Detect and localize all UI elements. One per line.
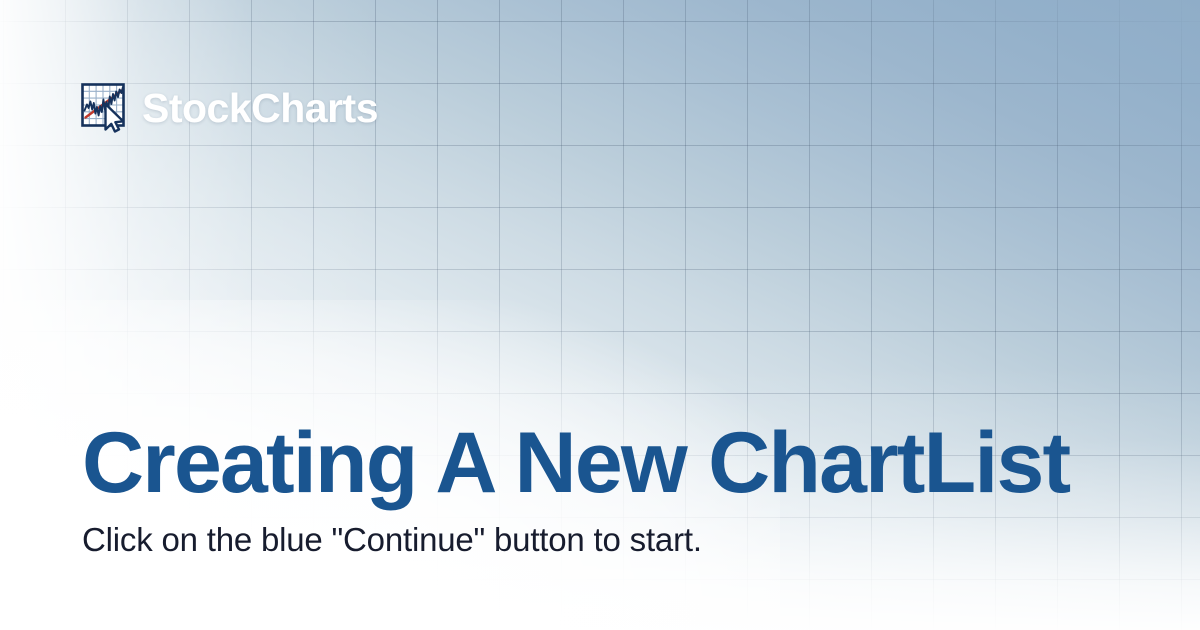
- brand-wordmark: StockCharts: [142, 88, 378, 129]
- page-title: Creating A New ChartList: [82, 420, 1142, 506]
- page-subtitle: Click on the blue "Continue" button to s…: [82, 520, 1142, 560]
- social-card: StockCharts Creating A New ChartList Cli…: [0, 0, 1200, 630]
- text-block: Creating A New ChartList Click on the bl…: [82, 420, 1142, 560]
- brand-logo[interactable]: StockCharts: [80, 82, 378, 134]
- stock-chart-cursor-icon: [80, 82, 132, 134]
